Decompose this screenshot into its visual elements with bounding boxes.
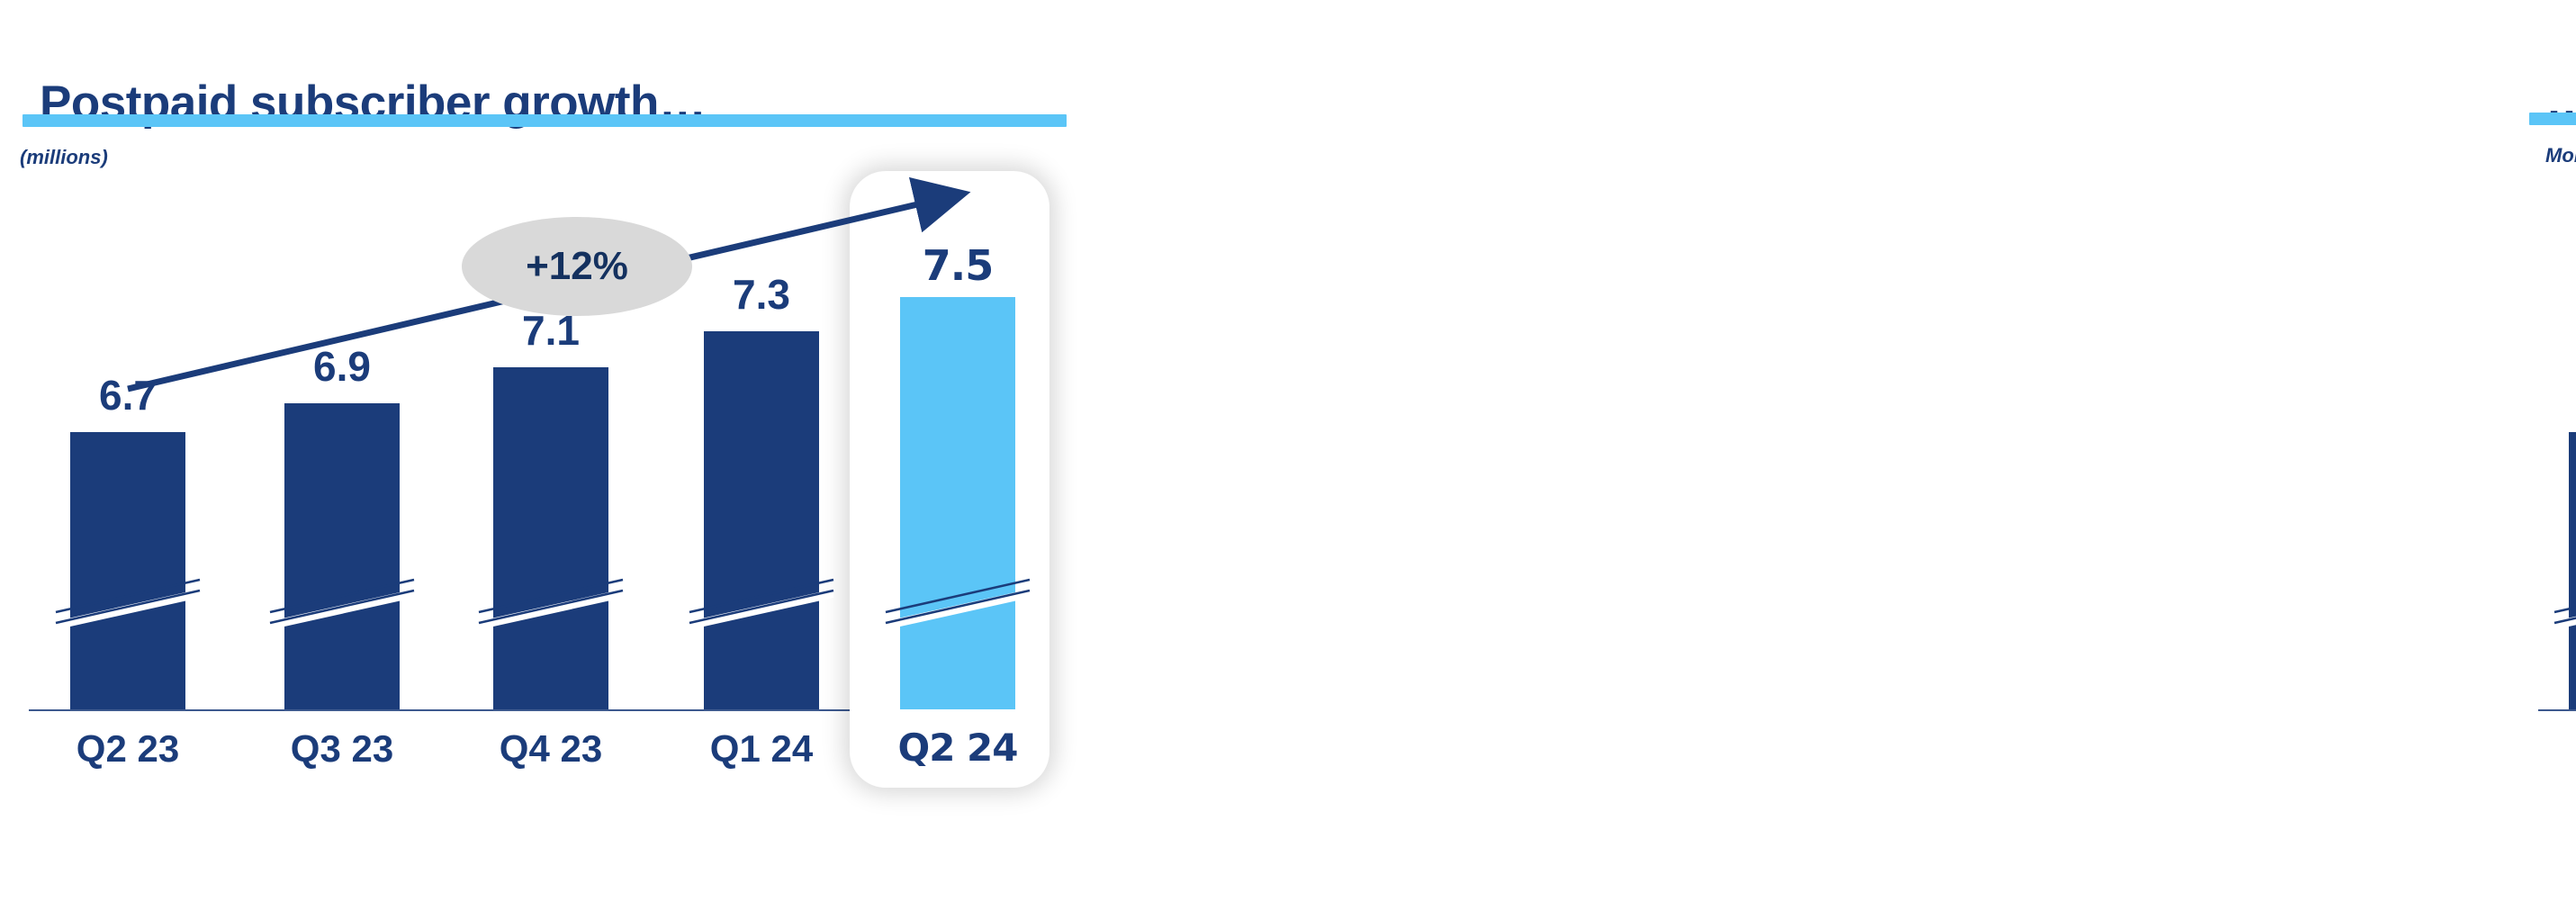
left-value-label-q2-23: 6.7 — [70, 371, 185, 419]
right-panel: …driving mobile service revenue1 Mobile … — [1242, 0, 2576, 920]
left-x-label-q3-23: Q3 23 — [266, 727, 418, 771]
left-bar-q2-23 — [70, 432, 185, 709]
right-axis-line — [2538, 709, 2576, 711]
right-x-label-q2-23: Q2 23 — [2551, 727, 2576, 771]
right-bar-q2-23 — [2569, 432, 2576, 709]
left-growth-callout: +12% — [462, 217, 692, 316]
slide-root: Postpaid subscriber growth… (millions) — [0, 0, 2576, 920]
right-chart: 738 Q2 23 759 Q3 23 774 Q4 23 — [2538, 162, 2576, 810]
left-value-label-q2-24: 7.5 — [900, 241, 1015, 290]
left-value-label-q1-24: 7.3 — [704, 270, 819, 319]
left-x-label-q2-23: Q2 23 — [52, 727, 203, 771]
left-bar-q4-23 — [493, 367, 608, 709]
left-bar-q3-23 — [284, 403, 400, 709]
left-x-label-q4-23: Q4 23 — [475, 727, 626, 771]
right-value-label-q2-23: 738 — [2556, 371, 2576, 419]
left-panel: Postpaid subscriber growth… (millions) — [0, 0, 1242, 920]
left-bar-q2-24 — [900, 297, 1015, 709]
right-accent-bar — [2529, 113, 2576, 125]
left-chart: 6.7 Q2 23 6.9 Q3 23 7.1 Q4 23 — [0, 162, 1116, 810]
left-x-label-q2-24: Q2 24 — [882, 726, 1033, 770]
left-bar-q1-24 — [704, 331, 819, 709]
left-x-label-q1-24: Q1 24 — [686, 727, 837, 771]
left-value-label-q3-23: 6.9 — [284, 342, 400, 391]
left-accent-bar — [23, 114, 1067, 127]
